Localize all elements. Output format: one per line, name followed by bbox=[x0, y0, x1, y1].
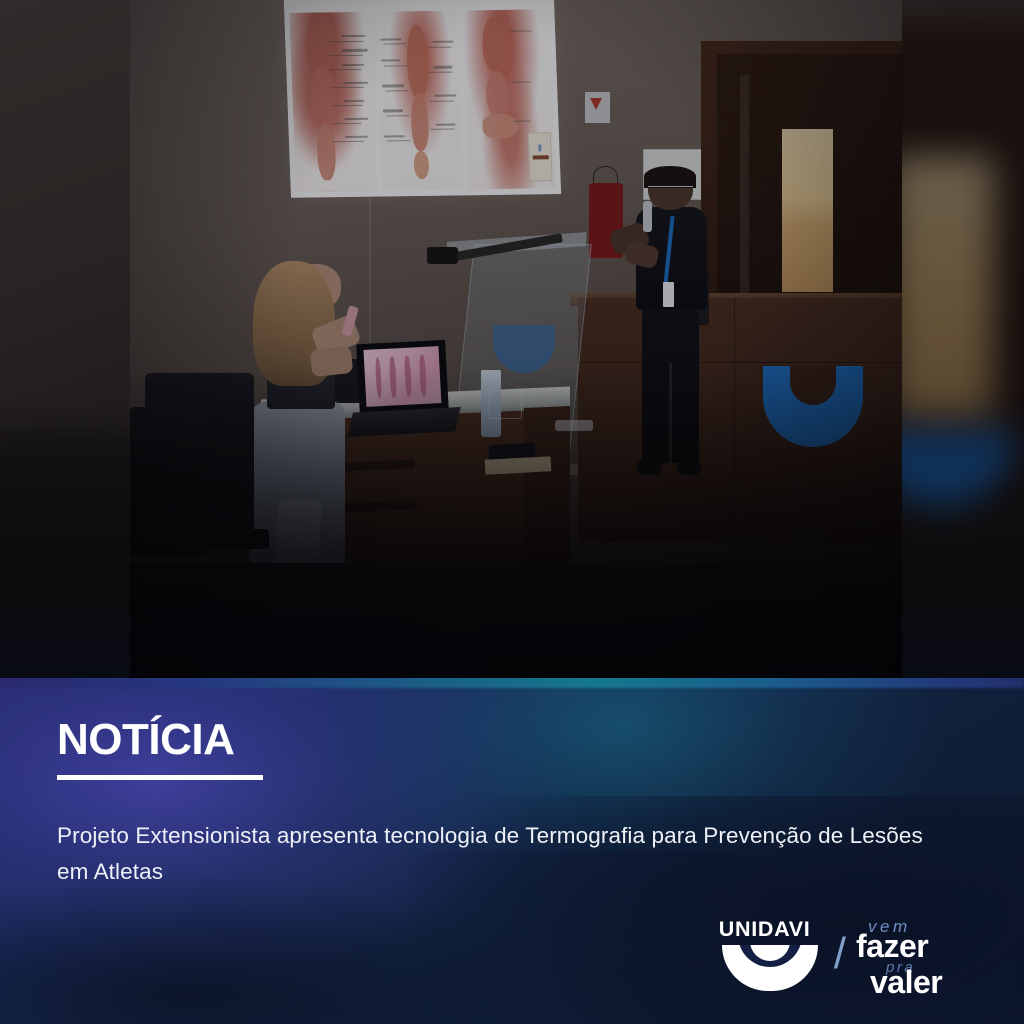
kicker-underline bbox=[57, 775, 263, 780]
tagline-valer: valer bbox=[870, 966, 942, 998]
projected-anatomy-slide: Alavanca de 2ª classe ou inter resistent… bbox=[283, 0, 561, 198]
anatomy-figure-posterior bbox=[376, 10, 464, 190]
microphone-icon bbox=[427, 247, 458, 263]
kicker-label: NOTÍCIA bbox=[57, 718, 263, 762]
anatomy-figure-foot bbox=[462, 9, 555, 190]
id-badge bbox=[663, 282, 674, 307]
event-photograph: Alavanca de 2ª classe ou inter resistent… bbox=[130, 0, 902, 678]
arrow-icon bbox=[590, 98, 602, 110]
banner-accent-strip bbox=[0, 678, 1024, 688]
tagline-lockup: vem fazer pra valer bbox=[856, 916, 976, 996]
unidavi-wordmark: UNIDAVI bbox=[719, 919, 811, 941]
anatomy-figure-anterior bbox=[290, 12, 378, 192]
photo-area: Alavanca de 2ª classe ou inter resistent… bbox=[0, 0, 1024, 678]
headline-text: Projeto Extensionista apresenta tecnolog… bbox=[57, 818, 957, 891]
unidavi-logo: UNIDAVI bbox=[716, 919, 824, 993]
eyeglasses-icon bbox=[648, 186, 692, 194]
slide-lever-diagram bbox=[528, 133, 553, 182]
kicker-block: NOTÍCIA bbox=[57, 718, 263, 780]
brand-lockup: UNIDAVI / vem fazer pra valer bbox=[716, 916, 976, 996]
tagline-fazer: fazer bbox=[856, 930, 928, 962]
door-edge bbox=[740, 75, 749, 299]
logo-separator: / bbox=[834, 932, 846, 976]
unidavi-smile-icon bbox=[722, 945, 818, 991]
door-glass-panel bbox=[782, 129, 832, 292]
news-poster: Alavanca de 2ª classe ou inter resistent… bbox=[0, 0, 1024, 1024]
handheld-microphone bbox=[643, 201, 652, 232]
